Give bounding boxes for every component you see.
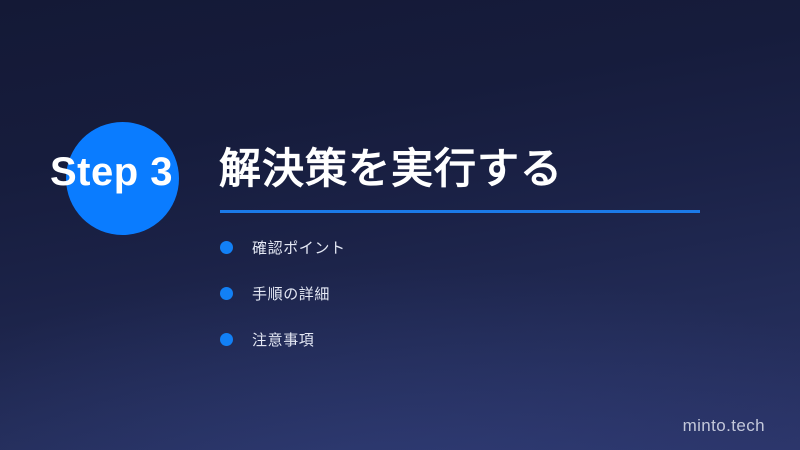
bullet-dot-icon: [220, 241, 233, 254]
list-item: 確認ポイント: [220, 234, 346, 260]
slide-canvas: Step 3 解決策を実行する 確認ポイント 手順の詳細 注意事項 minto.…: [0, 0, 800, 450]
step-badge-label: Step 3: [50, 152, 173, 192]
title-divider: [220, 210, 700, 213]
bullet-dot-icon: [220, 333, 233, 346]
list-item-label: 確認ポイント: [252, 237, 346, 258]
bullet-list: 確認ポイント 手順の詳細 注意事項: [220, 234, 346, 352]
footer-brand: minto.tech: [683, 416, 765, 436]
list-item: 注意事項: [220, 326, 346, 352]
bullet-dot-icon: [220, 287, 233, 300]
list-item-label: 注意事項: [252, 329, 314, 350]
list-item-label: 手順の詳細: [252, 283, 330, 304]
slide-title: 解決策を実行する: [219, 146, 563, 192]
list-item: 手順の詳細: [220, 280, 346, 306]
